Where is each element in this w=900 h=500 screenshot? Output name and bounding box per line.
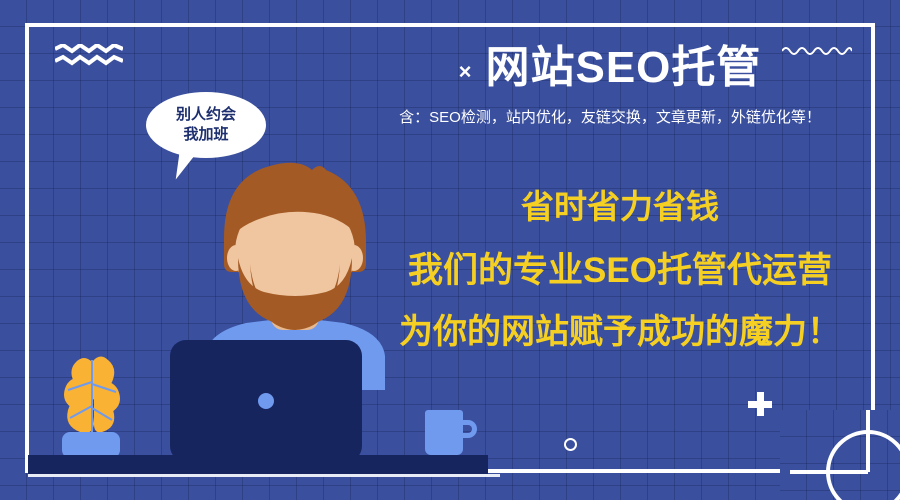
desk-edge-highlight (28, 474, 500, 477)
ear-left-shape (227, 245, 245, 271)
seo-promo-banner: × 网站SEO托管 含：SEO检测，站内优化，友链交换，文章更新，外链优化等！ … (0, 0, 900, 500)
speech-bubble-line-1: 别人约会 (176, 105, 236, 125)
laptop-logo-dot (258, 393, 274, 409)
page-title: 网站SEO托管 (485, 44, 761, 92)
coffee-mug-handle (461, 420, 477, 438)
headline-block: × 网站SEO托管 含：SEO检测，站内优化，友链交换，文章更新，外链优化等！ (330, 44, 890, 127)
mouth-shape (269, 274, 321, 290)
plus-icon (748, 392, 772, 416)
ear-right-shape (345, 245, 363, 271)
page-subtitle: 含：SEO检测，站内优化，友链交换，文章更新，外链优化等！ (330, 106, 890, 127)
laptop-icon (170, 340, 362, 462)
speech-bubble-line-2: 我加班 (183, 125, 228, 145)
title-row: × 网站SEO托管 (330, 44, 890, 92)
desk-surface (28, 455, 488, 476)
circle-outline-icon (564, 438, 577, 451)
wave-lines-icon (55, 44, 123, 68)
title-prefix-mark: × (459, 61, 472, 83)
coffee-mug-icon (425, 410, 463, 455)
speech-bubble: 别人约会 我加班 (146, 92, 266, 158)
corner-circle-crosshair-icon (790, 410, 900, 500)
